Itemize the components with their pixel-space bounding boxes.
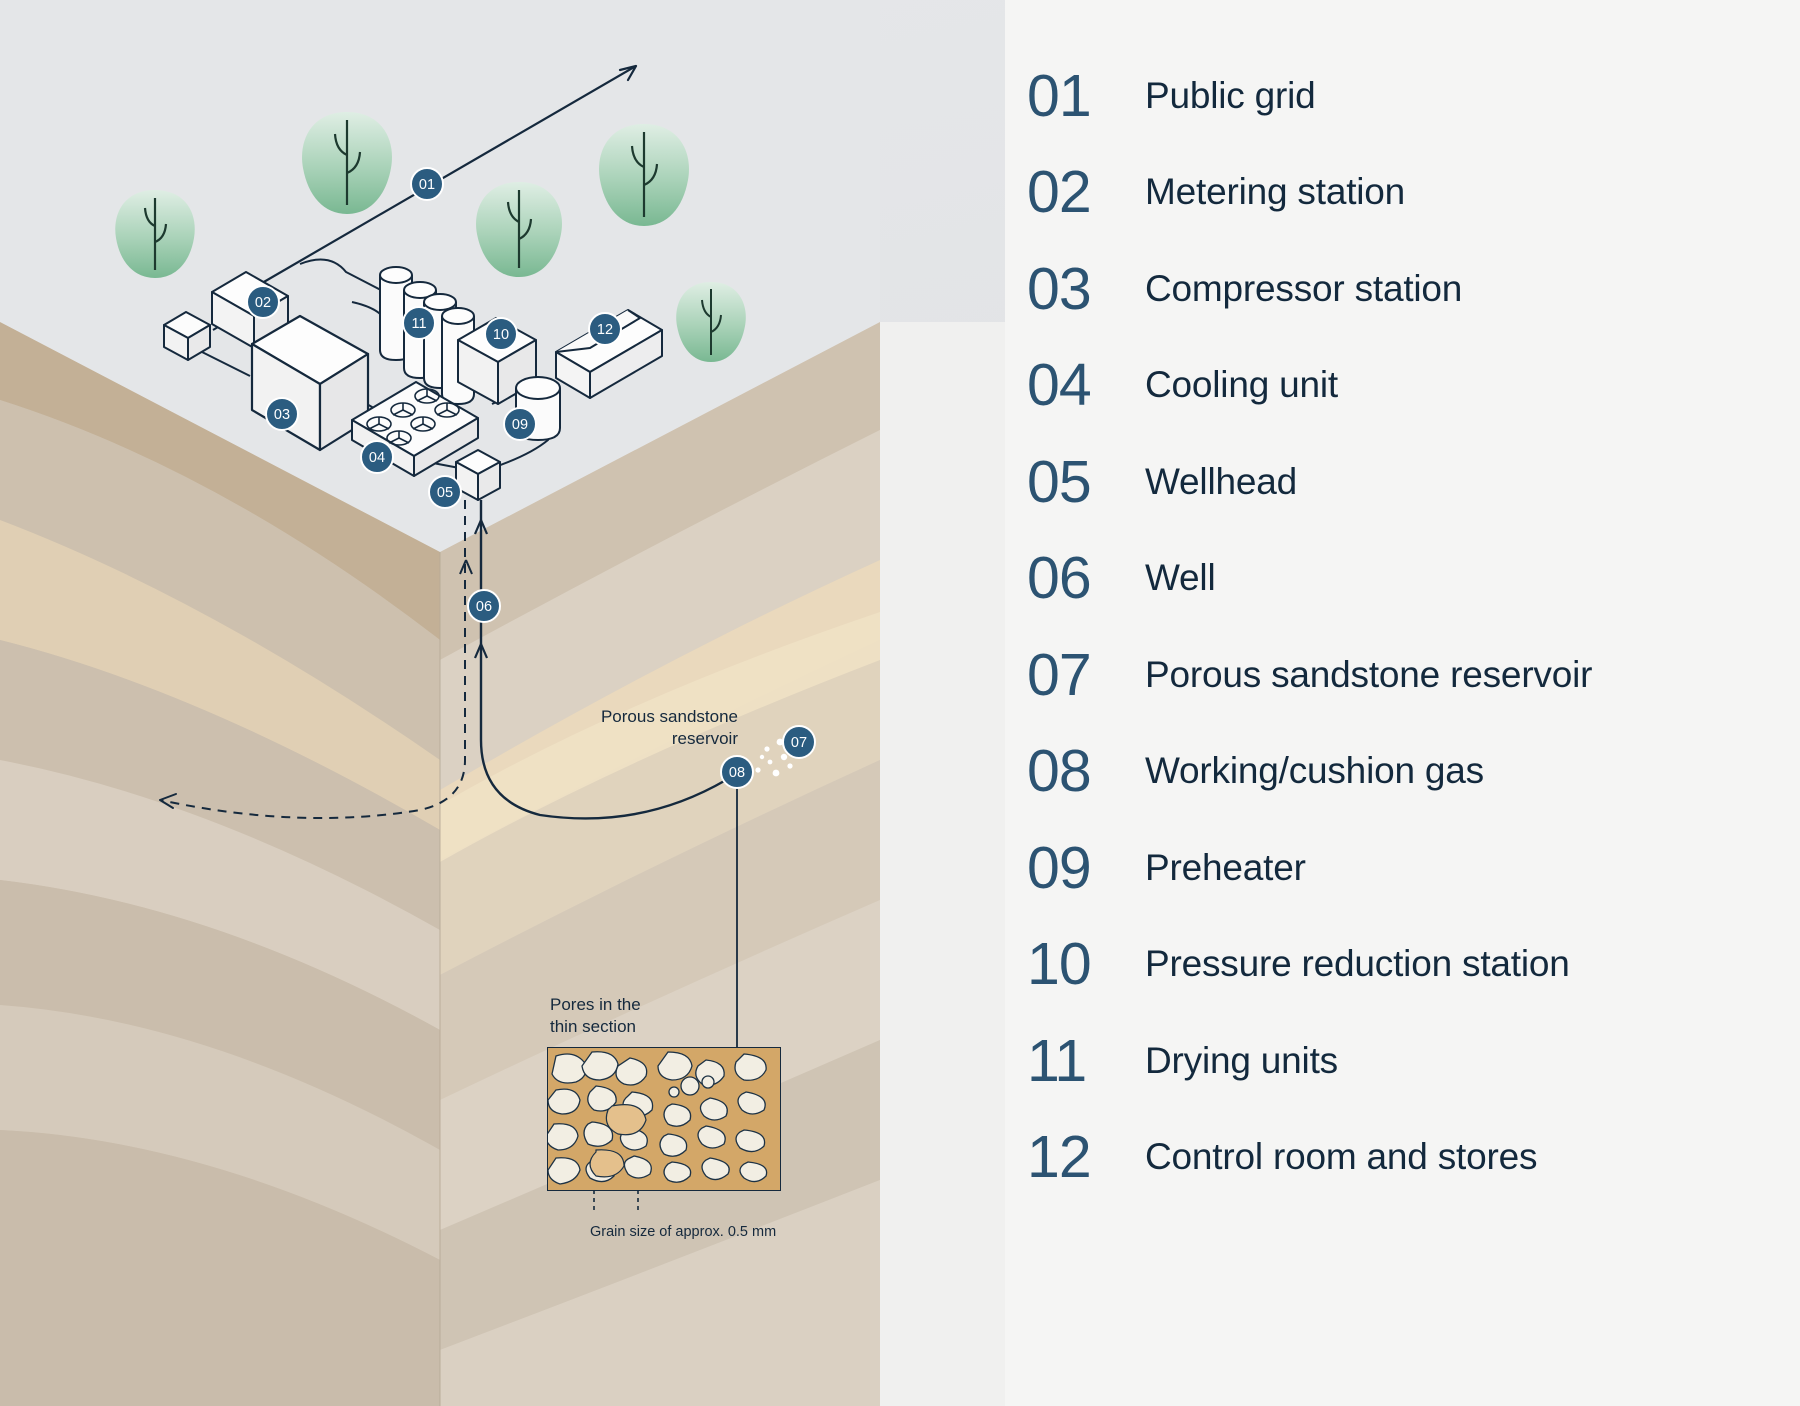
legend-panel: 01Public grid02Metering station03Compres… <box>1005 0 1800 1406</box>
diagram-page: Porous sandstone reservoir <box>0 0 1800 1406</box>
marker-number: 01 <box>419 177 435 193</box>
legend-label: Control room and stores <box>1145 1137 1537 1178</box>
legend-item-09[interactable]: 09Preheater <box>1005 820 1800 916</box>
marker-06[interactable]: 06 <box>468 590 500 622</box>
marker-number: 08 <box>729 765 745 781</box>
marker-01[interactable]: 01 <box>411 168 443 200</box>
legend-item-04[interactable]: 04Cooling unit <box>1005 338 1800 434</box>
marker-number: 02 <box>255 295 271 311</box>
thin-section-label-line1: Pores in the <box>550 995 641 1014</box>
thin-section-label-line2: thin section <box>550 1017 636 1036</box>
legend-number: 08 <box>1005 742 1145 801</box>
legend-item-11[interactable]: 11Drying units <box>1005 1013 1800 1109</box>
legend-item-03[interactable]: 03Compressor station <box>1005 241 1800 337</box>
legend-label: Well <box>1145 558 1215 599</box>
legend-item-01[interactable]: 01Public grid <box>1005 48 1800 144</box>
legend-item-10[interactable]: 10Pressure reduction station <box>1005 917 1800 1013</box>
legend-label: Pressure reduction station <box>1145 944 1570 985</box>
legend-number: 07 <box>1005 646 1145 705</box>
legend-item-08[interactable]: 08Working/cushion gas <box>1005 724 1800 820</box>
legend-label: Drying units <box>1145 1041 1338 1082</box>
marker-07[interactable]: 07 <box>783 726 815 758</box>
marker-number: 05 <box>437 485 453 501</box>
legend-item-07[interactable]: 07Porous sandstone reservoir <box>1005 627 1800 723</box>
marker-08[interactable]: 08 <box>721 756 753 788</box>
legend-number: 11 <box>1005 1032 1145 1091</box>
grain-size-caption: Grain size of approx. 0.5 mm <box>590 1224 776 1240</box>
legend-label: Preheater <box>1145 848 1306 889</box>
legend-number: 03 <box>1005 260 1145 319</box>
marker-04[interactable]: 04 <box>361 441 393 473</box>
marker-10[interactable]: 10 <box>485 318 517 350</box>
legend-number: 09 <box>1005 839 1145 898</box>
legend-number: 01 <box>1005 67 1145 126</box>
marker-number: 06 <box>476 599 492 615</box>
marker-number: 10 <box>493 327 509 343</box>
legend-label: Cooling unit <box>1145 365 1338 406</box>
legend-number: 02 <box>1005 163 1145 222</box>
marker-02[interactable]: 02 <box>247 286 279 318</box>
legend-number: 12 <box>1005 1128 1145 1187</box>
legend-label: Compressor station <box>1145 269 1462 310</box>
marker-number: 12 <box>597 322 613 338</box>
legend-item-06[interactable]: 06Well <box>1005 531 1800 627</box>
legend-number: 05 <box>1005 453 1145 512</box>
thin-section-inset <box>546 1048 780 1214</box>
legend-list: 01Public grid02Metering station03Compres… <box>1005 0 1800 1406</box>
marker-09[interactable]: 09 <box>504 408 536 440</box>
marker-05[interactable]: 05 <box>429 476 461 508</box>
wellhead <box>456 450 500 500</box>
marker-12[interactable]: 12 <box>589 313 621 345</box>
legend-number: 06 <box>1005 549 1145 608</box>
legend-item-02[interactable]: 02Metering station <box>1005 145 1800 241</box>
legend-label: Porous sandstone reservoir <box>1145 655 1592 696</box>
marker-number: 09 <box>512 417 528 433</box>
legend-item-12[interactable]: 12Control room and stores <box>1005 1110 1800 1206</box>
marker-number: 07 <box>791 735 807 751</box>
marker-11[interactable]: 11 <box>403 307 435 339</box>
reservoir-label-line1: Porous sandstone <box>601 707 738 726</box>
legend-label: Wellhead <box>1145 462 1297 503</box>
marker-number: 11 <box>411 316 426 332</box>
legend-label: Public grid <box>1145 76 1316 117</box>
legend-label: Working/cushion gas <box>1145 751 1484 792</box>
gas-storage-illustration: Porous sandstone reservoir <box>0 0 1005 1406</box>
marker-03[interactable]: 03 <box>266 398 298 430</box>
legend-item-05[interactable]: 05Wellhead <box>1005 434 1800 530</box>
marker-number: 03 <box>274 407 290 423</box>
legend-number: 04 <box>1005 356 1145 415</box>
marker-number: 04 <box>369 450 385 466</box>
reservoir-label-line2: reservoir <box>672 729 738 748</box>
legend-label: Metering station <box>1145 172 1405 213</box>
legend-number: 10 <box>1005 935 1145 994</box>
